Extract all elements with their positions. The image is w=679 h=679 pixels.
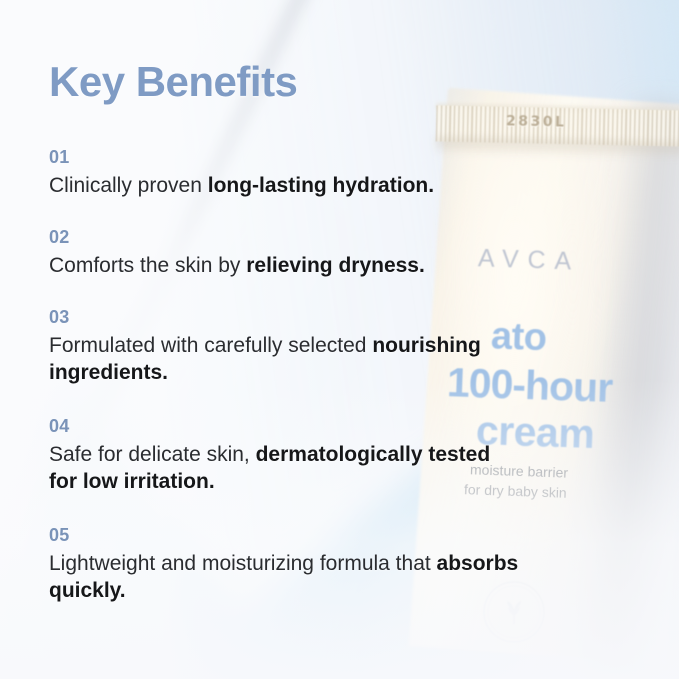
benefit-item-04: 04 Safe for delicate skin, dermatologica… bbox=[49, 415, 519, 496]
benefit-number: 01 bbox=[49, 146, 434, 169]
benefit-number: 04 bbox=[49, 415, 519, 438]
benefit-number: 05 bbox=[49, 524, 519, 547]
benefit-text: Clinically proven long-lasting hydration… bbox=[49, 172, 434, 200]
benefit-item-05: 05 Lightweight and moisturizing formula … bbox=[49, 524, 519, 605]
benefit-text: Safe for delicate skin, dermatologically… bbox=[49, 441, 519, 496]
benefit-text-lead: Formulated with carefully selected bbox=[49, 334, 372, 357]
page-title: Key Benefits bbox=[49, 58, 297, 106]
product-benefits-graphic: 2830L AVCA ato 100-hour cream moisture b… bbox=[0, 0, 679, 679]
benefit-item-03: 03 Formulated with carefully selected no… bbox=[49, 306, 519, 387]
benefit-text-lead: Comforts the skin by bbox=[49, 254, 246, 277]
benefit-item-01: 01 Clinically proven long-lasting hydrat… bbox=[49, 146, 434, 199]
benefit-text-emphasis: long-lasting hydration. bbox=[208, 174, 434, 197]
benefit-text-lead: Lightweight and moisturizing formula tha… bbox=[49, 552, 437, 575]
benefit-number: 02 bbox=[49, 226, 425, 249]
benefit-text: Comforts the skin by relieving dryness. bbox=[49, 252, 425, 280]
benefit-number: 03 bbox=[49, 306, 519, 329]
benefit-text: Formulated with carefully selected nouri… bbox=[49, 332, 519, 387]
benefit-text-lead: Clinically proven bbox=[49, 174, 208, 197]
benefits-content: Key Benefits 01 Clinically proven long-l… bbox=[0, 0, 679, 679]
benefit-text-emphasis: relieving dryness. bbox=[246, 254, 425, 277]
benefit-item-02: 02 Comforts the skin by relieving drynes… bbox=[49, 226, 425, 279]
benefit-text-lead: Safe for delicate skin, bbox=[49, 443, 256, 466]
benefit-text: Lightweight and moisturizing formula tha… bbox=[49, 550, 519, 605]
